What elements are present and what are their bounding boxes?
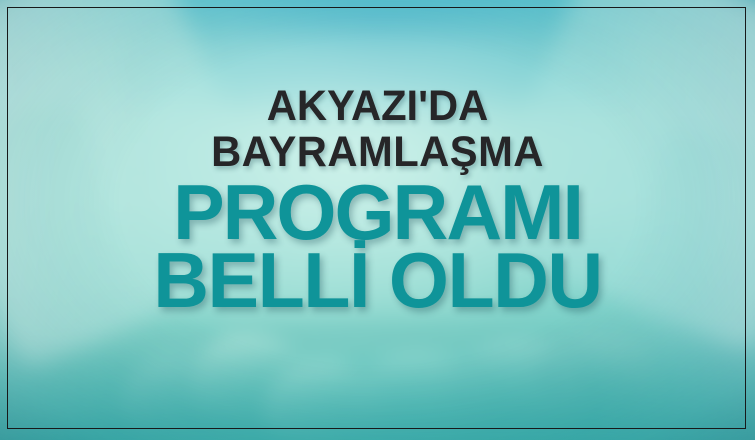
headline-block: AKYAZI'DA BAYRAMLAŞMA PROGRAMI BELLİ OLD…: [0, 84, 755, 316]
news-thumbnail-card: AKYAZI'DA BAYRAMLAŞMA PROGRAMI BELLİ OLD…: [0, 0, 755, 440]
background-bottom-shade: [0, 340, 755, 440]
headline-line-4: BELLİ OLDU: [4, 245, 751, 315]
headline-line-1: AKYAZI'DA: [11, 84, 743, 130]
